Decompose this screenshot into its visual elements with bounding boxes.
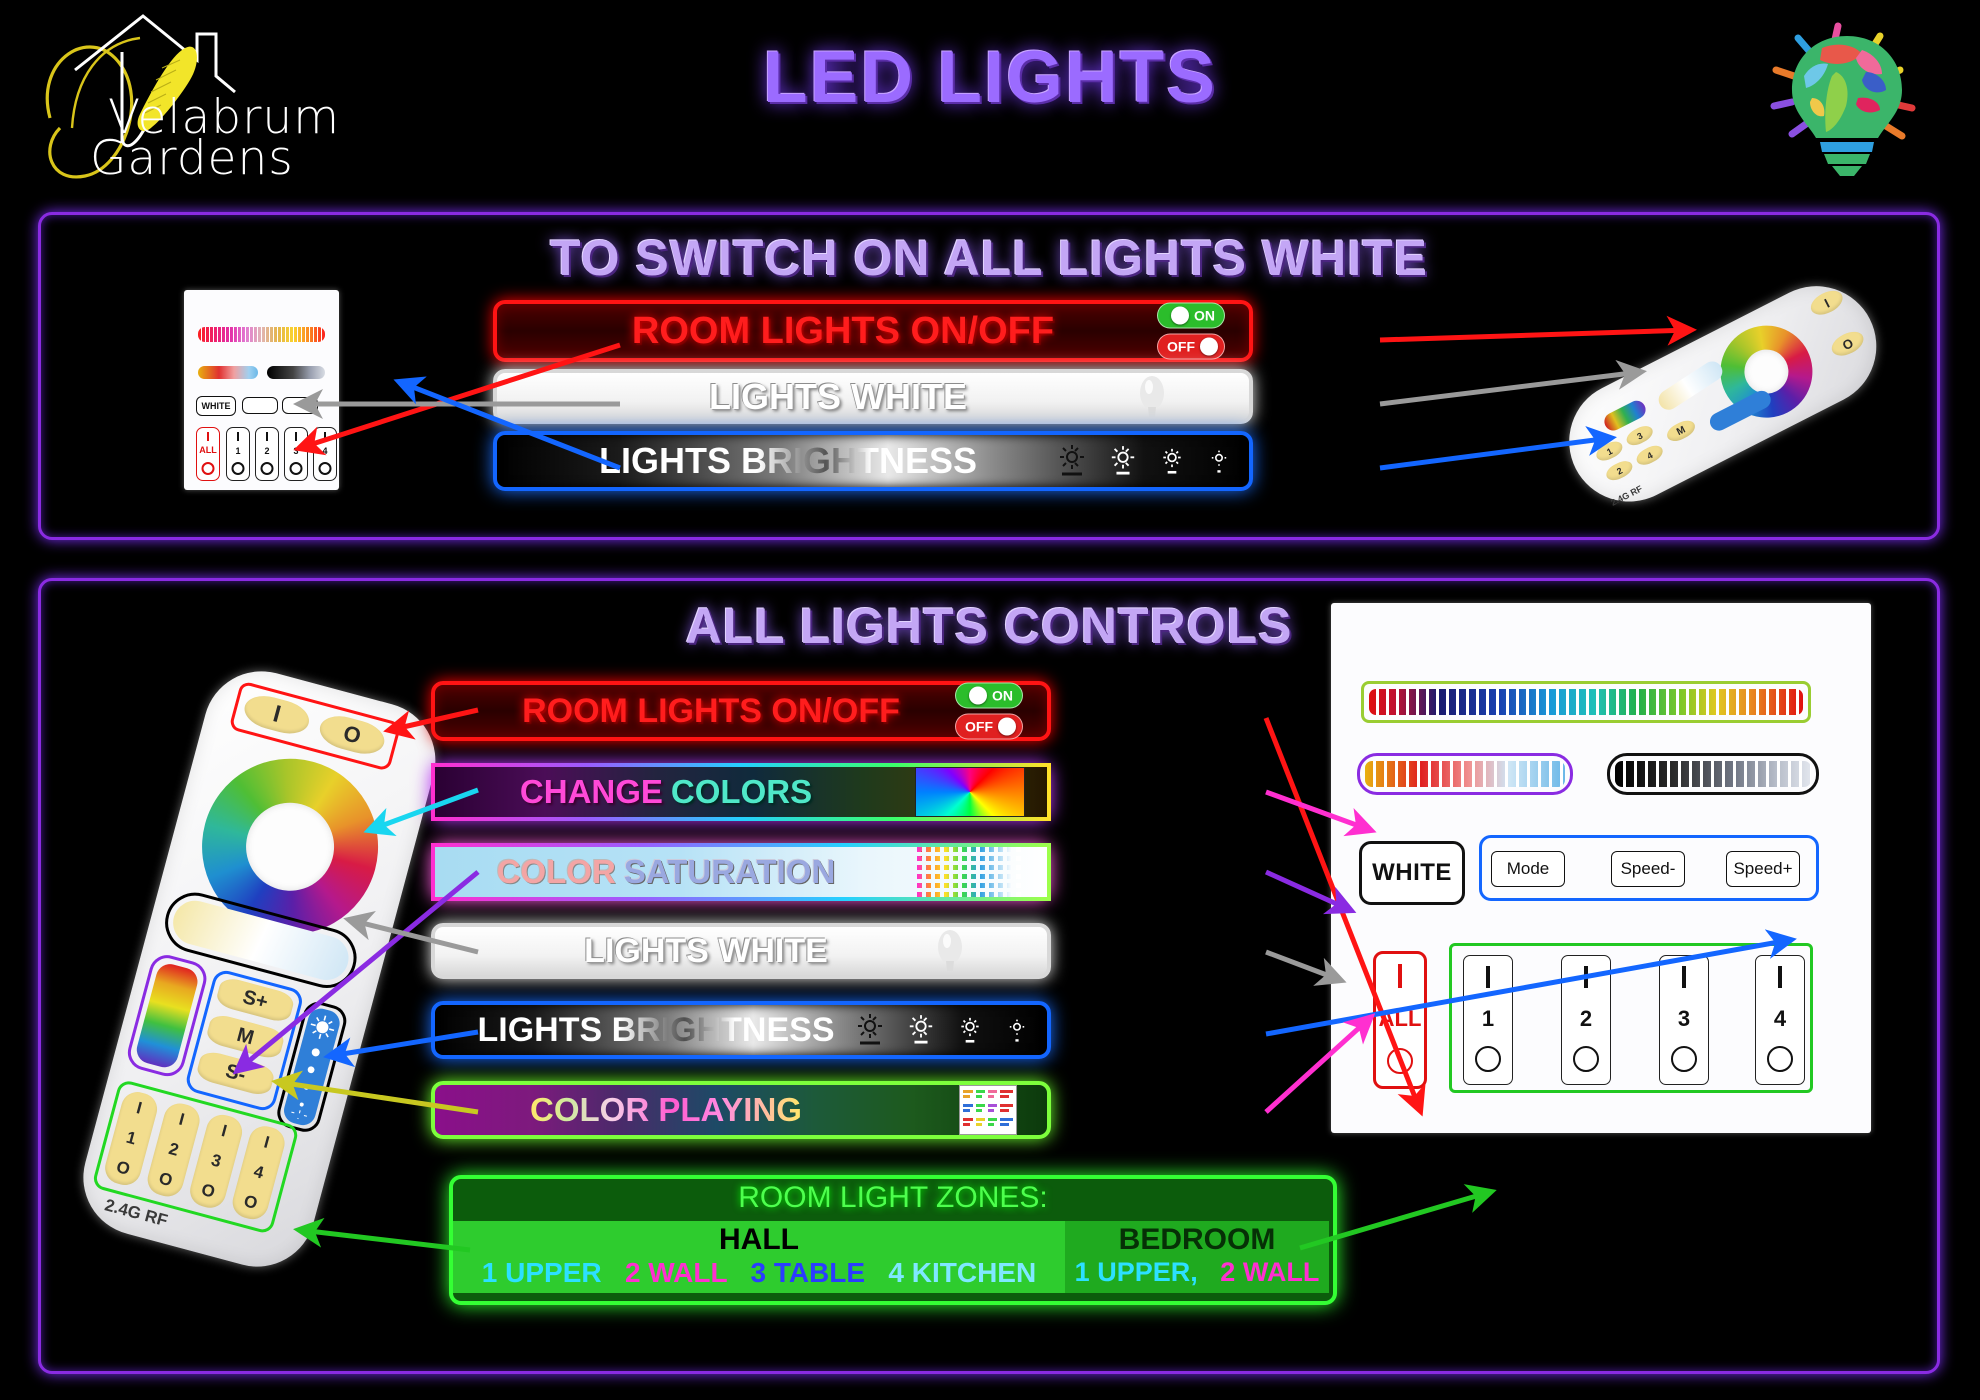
zones-heading: ROOM LIGHT ZONES: <box>453 1181 1333 1215</box>
room-light-zones-box: ROOM LIGHT ZONES: HALL 1 UPPER 2 WALL 3 … <box>449 1175 1337 1305</box>
bar-label: LIGHTS WHITE <box>584 932 828 971</box>
wall-switch-panel-large[interactable]: WHITE Mode Speed- Speed+ ALL 1 2 3 4 <box>1331 603 1871 1133</box>
zone-bedroom-title: BEDROOM <box>1065 1221 1329 1257</box>
rgb-remote-top[interactable]: I O M 1 2 3 4 2.4G RF <box>1521 277 1921 517</box>
bar-room-lights-onoff-1[interactable]: ROOM LIGHTS ON/OFF ON OFF <box>493 300 1253 362</box>
mode-button-small[interactable] <box>242 397 278 414</box>
bar-lights-white-1[interactable]: LIGHTS WHITE <box>493 369 1253 424</box>
bar-label: LIGHTS WHITE <box>709 376 967 418</box>
remote-rf-label-top: 2.4G RF <box>1609 483 1644 507</box>
color-modes-icon <box>959 1085 1017 1135</box>
zone-rocker-3[interactable]: 3 <box>1659 955 1709 1085</box>
bar-label: LIGHTS BRIGHTNESS <box>599 440 977 482</box>
toggle-off-1[interactable]: OFF <box>1157 334 1225 360</box>
color-strip-small[interactable] <box>198 327 325 342</box>
onoff-toggles-1[interactable]: ON OFF <box>1157 303 1225 360</box>
remote-off-button-top[interactable]: O <box>1828 327 1867 360</box>
remote-zone-2-top[interactable]: 2 <box>1603 458 1635 484</box>
mode-button[interactable]: Mode <box>1491 851 1565 887</box>
brightness-strip-small[interactable] <box>267 366 325 379</box>
bulb-icon <box>933 927 967 975</box>
speed-down-button[interactable]: Speed- <box>1611 851 1685 887</box>
zone-rocker-small-2[interactable]: 2 <box>255 427 279 481</box>
zone-hall-block[interactable]: HALL 1 UPPER 2 WALL 3 TABLE 4 KITCHEN <box>453 1221 1065 1293</box>
zone-rocker-2[interactable]: 2 <box>1561 955 1611 1085</box>
bar-room-lights-onoff-2[interactable]: ROOM LIGHTS ON/OFF ON OFF <box>431 681 1051 741</box>
color-strip[interactable] <box>1369 689 1803 715</box>
section-all-lights-controls: ALL LIGHTS CONTROLS I O S+ M S- <box>38 578 1940 1374</box>
logo-line-2: Gardens <box>90 131 294 186</box>
zone-rocker-small-3[interactable]: 3 <box>284 427 308 481</box>
sun-levels-icon <box>1057 443 1231 479</box>
toggle-knob <box>1171 307 1189 325</box>
toggle-on-1[interactable]: ON <box>1157 303 1225 329</box>
all-rocker[interactable]: ALL <box>1373 951 1427 1089</box>
onoff-toggles-2[interactable]: ON OFF <box>955 683 1023 740</box>
zone-bedroom-items: 1 UPPER, 2 WALL <box>1065 1257 1329 1288</box>
brightness-strip[interactable] <box>1615 761 1811 787</box>
bar-change-colors[interactable]: CHANGE COLORS <box>431 763 1051 821</box>
highlight-onoff <box>228 680 401 771</box>
bar-label-a: COLOR <box>497 853 616 891</box>
zone-rocker-small-1[interactable]: 1 <box>226 427 250 481</box>
rgb-remote-main[interactable]: I O S+ M S- <box>81 669 451 1289</box>
bar-label-a: CHANGE <box>520 773 663 811</box>
colorful-lightbulb-icon <box>1762 14 1932 179</box>
saturation-strip[interactable] <box>1365 761 1565 787</box>
bar-lights-white-2[interactable]: LIGHTS WHITE <box>431 923 1051 979</box>
remote-zone-1-top[interactable]: 1 <box>1594 438 1626 464</box>
page-header: Velabrum Gardens LED LIGHTS <box>0 0 1980 192</box>
toggle-knob <box>1200 338 1218 356</box>
remote-zone-3-top[interactable]: 3 <box>1624 423 1656 449</box>
bar-lights-brightness-1[interactable]: LIGHTS BRIGHTNESS <box>493 431 1253 491</box>
bar-color-saturation[interactable]: COLOR SATURATION <box>431 843 1051 901</box>
all-label-small: ALL <box>199 445 217 455</box>
toggle-on-2[interactable]: ON <box>955 683 1023 709</box>
rainbow-burst-icon <box>915 767 1025 817</box>
all-label: ALL <box>1379 1006 1422 1032</box>
bulb-icon <box>1135 373 1169 421</box>
toggle-off-2[interactable]: OFF <box>955 714 1023 740</box>
bar-label: ROOM LIGHTS ON/OFF <box>522 692 900 731</box>
remote-sp-button-top[interactable]: M <box>1664 417 1698 445</box>
speed-button-small[interactable] <box>282 397 318 414</box>
white-button[interactable]: WHITE <box>1359 841 1465 905</box>
section-switch-all-white: TO SWITCH ON ALL LIGHTS WHITE WHITE ALL … <box>38 212 1940 540</box>
bar-lights-brightness-2[interactable]: LIGHTS BRIGHTNESS <box>431 1001 1051 1059</box>
toggle-knob <box>969 687 987 705</box>
bar-label-b: COLORS <box>671 773 812 811</box>
page-title: LED LIGHTS <box>0 36 1980 119</box>
zone-bedroom-block[interactable]: BEDROOM 1 UPPER, 2 WALL <box>1065 1221 1329 1293</box>
bar-label: LIGHTS BRIGHTNESS <box>477 1011 834 1050</box>
remote-on-button-top[interactable]: I <box>1807 286 1846 319</box>
bar-label: ROOM LIGHTS ON/OFF <box>632 310 1054 353</box>
zone-hall-title: HALL <box>453 1221 1065 1257</box>
all-rocker-small[interactable]: ALL <box>196 427 220 481</box>
zone-rocker-1[interactable]: 1 <box>1463 955 1513 1085</box>
saturation-dots-icon <box>917 847 1025 897</box>
zone-rocker-4[interactable]: 4 <box>1755 955 1805 1085</box>
cct-slider-top[interactable] <box>1655 358 1726 414</box>
bar-label: COLOR PLAYING <box>530 1091 802 1129</box>
toggle-knob <box>998 718 1016 736</box>
speed-up-button[interactable]: Speed+ <box>1726 851 1800 887</box>
saturation-strip-small[interactable] <box>198 366 258 379</box>
zone-hall-items: 1 UPPER 2 WALL 3 TABLE 4 KITCHEN <box>453 1257 1065 1289</box>
bar-color-playing[interactable]: COLOR PLAYING <box>431 1081 1051 1139</box>
wall-switch-panel-small[interactable]: WHITE ALL 1 2 3 4 <box>184 290 339 490</box>
bar-label-b: SATURATION <box>624 853 835 891</box>
sun-levels-icon <box>855 1012 1029 1048</box>
white-button-small[interactable]: WHITE <box>196 396 236 416</box>
zone-rocker-small-4[interactable]: 4 <box>313 427 337 481</box>
remote-zone-4-top[interactable]: 4 <box>1634 442 1666 468</box>
